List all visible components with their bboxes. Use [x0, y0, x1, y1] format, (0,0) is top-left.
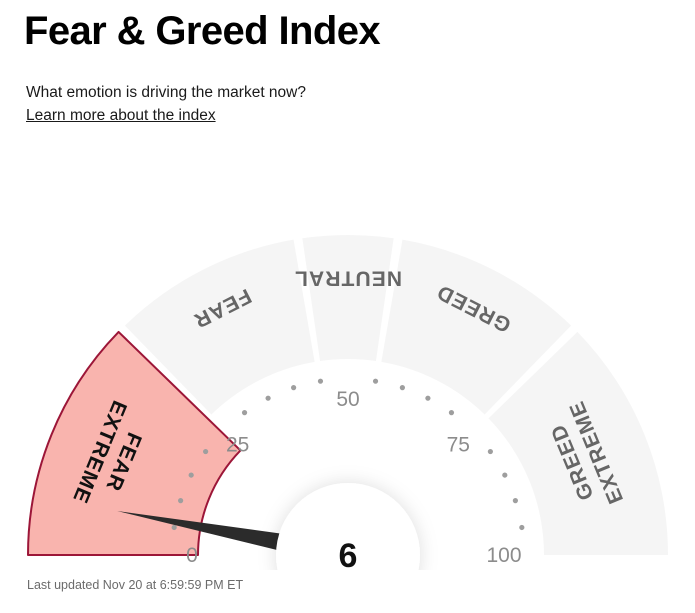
gauge-tick-dot	[373, 379, 378, 384]
page-subtitle: What emotion is driving the market now?	[26, 84, 306, 102]
gauge-tick-dot	[291, 385, 296, 390]
gauge-segment-label: NEUTRAL	[294, 266, 402, 289]
gauge-tick-dot	[513, 498, 518, 503]
gauge-tick-dot	[242, 410, 247, 415]
gauge-tick-label: 75	[447, 434, 470, 457]
gauge-tick-label: 25	[226, 434, 249, 457]
gauge-tick-dot	[502, 472, 507, 477]
gauge-tick-dot	[189, 472, 194, 477]
gauge-value: 6	[339, 537, 358, 570]
gauge-tick-dot	[425, 396, 430, 401]
gauge-tick-dot	[400, 385, 405, 390]
gauge-segment-neutral[interactable]	[302, 235, 393, 361]
last-updated-text: Last updated Nov 20 at 6:59:59 PM ET	[27, 578, 243, 592]
gauge-tick-dot	[203, 449, 208, 454]
gauge-tick-dot	[519, 525, 524, 530]
learn-more-link[interactable]: Learn more about the index	[26, 107, 216, 125]
gauge-tick-dot	[449, 410, 454, 415]
gauge-tick-dot	[172, 525, 177, 530]
gauge-tick-dot	[178, 498, 183, 503]
page-title: Fear & Greed Index	[24, 8, 380, 54]
gauge-tick-label: 50	[336, 388, 359, 411]
gauge-tick-label: 0	[186, 544, 198, 567]
gauge-tick-dot	[488, 449, 493, 454]
gauge-tick-label: 100	[486, 544, 521, 567]
gauge-svg: 0255075100 EXTREMEFEARFEARNEUTRALGREEDEX…	[0, 150, 695, 570]
gauge-center-hub: 6	[276, 483, 420, 570]
fear-greed-gauge: 0255075100 EXTREMEFEARFEARNEUTRALGREEDEX…	[0, 150, 695, 570]
gauge-tick-dot	[318, 379, 323, 384]
gauge-tick-dot	[265, 396, 270, 401]
